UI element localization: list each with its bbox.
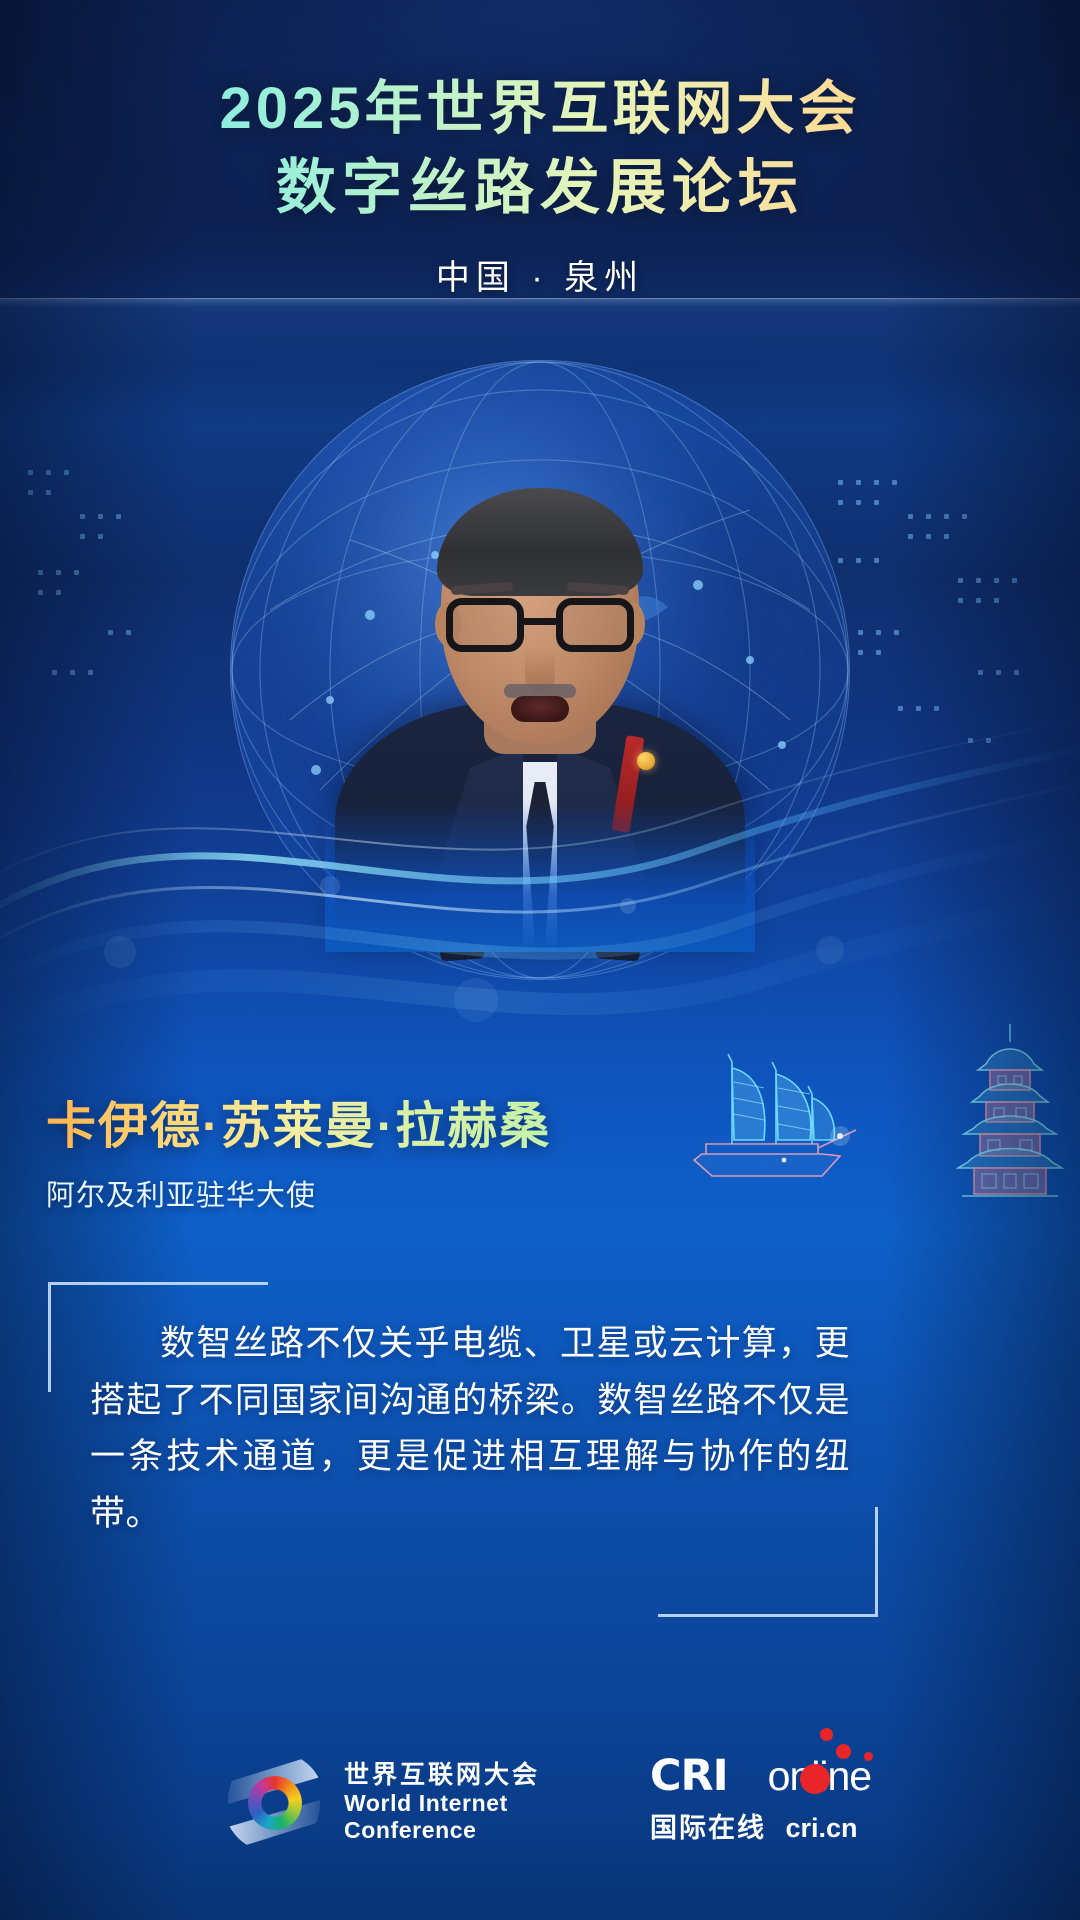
page-title: 2025年世界互联网大会 数字丝路发展论坛 [0, 0, 1080, 224]
cri-wordmark: CRI [650, 1751, 728, 1801]
quote-text: 数智丝路不仅关乎电缆、卫星或云计算，更搭起了不同国家间沟通的桥梁。数智丝路不仅是… [90, 1316, 850, 1543]
title-line-2: 数字丝路发展论坛 [0, 151, 1080, 224]
wic-color-ring-icon [248, 1776, 302, 1830]
header-divider-band [0, 298, 1080, 370]
chinese-junk-ship-icon [672, 1048, 862, 1198]
wic-name-en-line2: Conference [344, 1817, 540, 1844]
cri-logo-row-top: CRI online [650, 1750, 871, 1802]
wic-name-en-line1: World Internet [344, 1790, 540, 1817]
hair [437, 488, 643, 596]
wic-logo: 世界互联网大会 World Internet Conference [222, 1750, 540, 1854]
lens-right [556, 598, 634, 652]
pagoda-tower-icon [946, 1020, 1074, 1200]
lens-left [446, 598, 524, 652]
event-location: 中国 · 泉州 [0, 250, 1080, 299]
cri-dot-medium-icon [836, 1744, 851, 1759]
cri-dot-large-icon [800, 1764, 830, 1794]
wic-logo-text: 世界互联网大会 World Internet Conference [344, 1761, 540, 1843]
poster-canvas: 2025年世界互联网大会 数字丝路发展论坛 中国 · 泉州 卡伊德·苏莱曼·拉赫… [0, 0, 1080, 1920]
cri-logo-row-bottom: 国际在线 cri.cn [650, 1806, 871, 1845]
speaker-name: 卡伊德·苏莱曼·拉赫桑 [46, 1086, 551, 1158]
title-line-1: 2025年世界互联网大会 [0, 74, 1080, 145]
poster-footer: 世界互联网大会 World Internet Conference CRI on… [0, 1742, 1080, 1872]
cri-logo: CRI online 国际在线 cri.cn [650, 1750, 871, 1845]
wic-logo-mark-icon [222, 1750, 326, 1854]
speaker-role: 阿尔及利亚驻华大使 [46, 1172, 316, 1214]
cri-name-cn: 国际在线 [650, 1813, 766, 1843]
wic-name-cn: 世界互联网大会 [344, 1761, 540, 1790]
cri-dot-small-icon [864, 1752, 873, 1761]
glasses-bridge [524, 618, 556, 625]
poster-header: 2025年世界互联网大会 数字丝路发展论坛 [0, 0, 1080, 224]
dot-grid-left [28, 470, 178, 720]
quote-block: 数智丝路不仅关乎电缆、卫星或云计算，更搭起了不同国家间沟通的桥梁。数智丝路不仅是… [48, 1282, 878, 1617]
cri-url: cri.cn [786, 1813, 858, 1843]
cri-dot-tiny-icon [820, 1728, 833, 1741]
eyeglasses-icon [446, 598, 634, 654]
